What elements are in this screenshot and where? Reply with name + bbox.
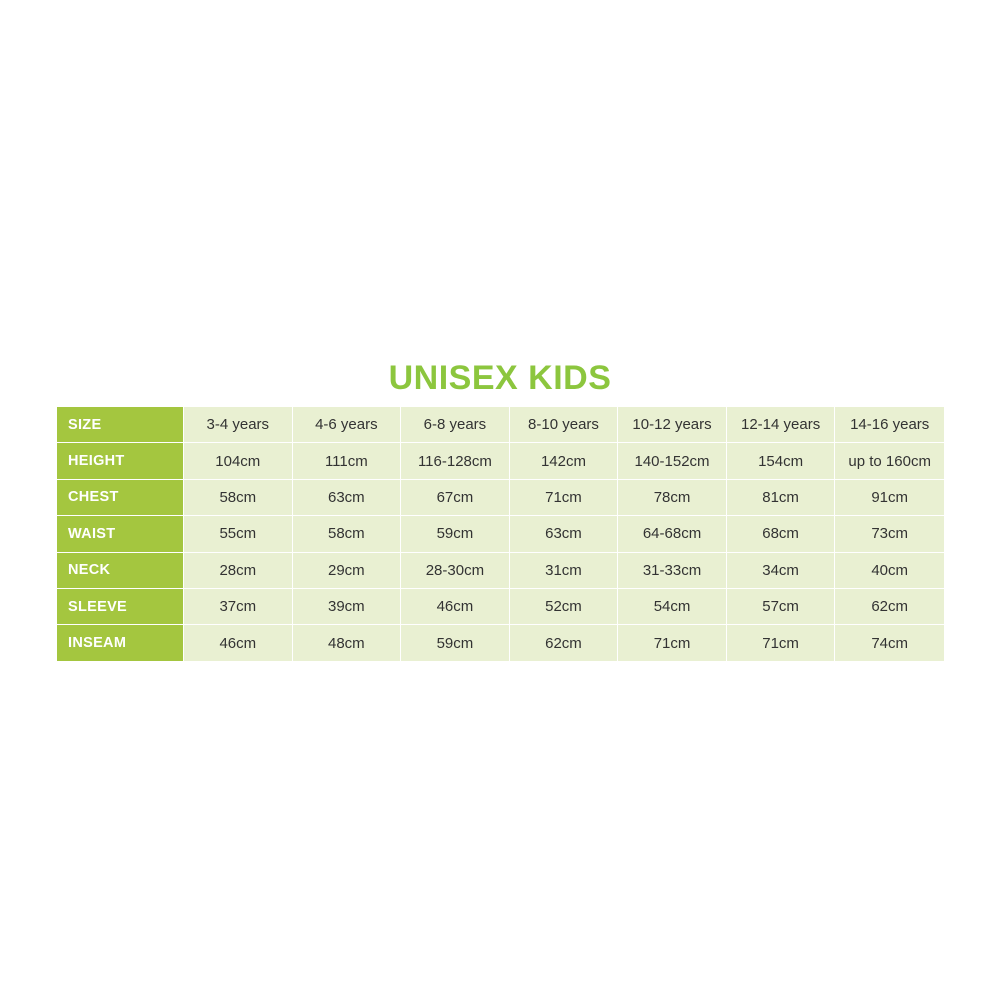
data-cell: 62cm (510, 625, 619, 660)
data-cell: 73cm (835, 516, 944, 552)
data-cell: 48cm (293, 625, 402, 660)
data-cell: 63cm (510, 516, 619, 552)
table-row: CHEST58cm63cm67cm71cm78cm81cm91cm (57, 480, 944, 516)
table-row: HEIGHT104cm111cm116-128cm142cm140-152cm1… (57, 443, 944, 479)
data-cell: 46cm (401, 589, 510, 625)
size-chart-table: SIZE3-4 years4-6 years6-8 years8-10 year… (57, 407, 944, 661)
data-cell: 78cm (618, 480, 727, 516)
data-cell: 37cm (184, 589, 293, 625)
data-cell: 64-68cm (618, 516, 727, 552)
row-label-cell: HEIGHT (57, 443, 184, 479)
data-cell: 67cm (401, 480, 510, 516)
column-header-cell: 8-10 years (510, 407, 619, 443)
column-header-cell: 6-8 years (401, 407, 510, 443)
data-cell: 68cm (727, 516, 836, 552)
data-cell: 71cm (727, 625, 836, 660)
data-cell: 29cm (293, 553, 402, 589)
column-header-cell: 3-4 years (184, 407, 293, 443)
row-label-cell: SLEEVE (57, 589, 184, 625)
data-cell: 46cm (184, 625, 293, 660)
size-chart-page: UNISEX KIDS SIZE3-4 years4-6 years6-8 ye… (0, 0, 1000, 1000)
table-row: INSEAM46cm48cm59cm62cm71cm71cm74cm (57, 625, 944, 660)
page-title: UNISEX KIDS (0, 358, 1000, 398)
data-cell: 31cm (510, 553, 619, 589)
data-cell: 59cm (401, 625, 510, 660)
data-cell: 59cm (401, 516, 510, 552)
row-label-cell: CHEST (57, 480, 184, 516)
data-cell: 58cm (184, 480, 293, 516)
data-cell: 34cm (727, 553, 836, 589)
column-header-cell: 4-6 years (293, 407, 402, 443)
data-cell: 74cm (835, 625, 944, 660)
data-cell: 40cm (835, 553, 944, 589)
table-row: WAIST55cm58cm59cm63cm64-68cm68cm73cm (57, 516, 944, 552)
data-cell: up to 160cm (835, 443, 944, 479)
row-label-cell: NECK (57, 553, 184, 589)
data-cell: 57cm (727, 589, 836, 625)
data-cell: 81cm (727, 480, 836, 516)
table-header-row: SIZE3-4 years4-6 years6-8 years8-10 year… (57, 407, 944, 443)
data-cell: 58cm (293, 516, 402, 552)
row-label-cell: INSEAM (57, 625, 184, 660)
size-chart-table-body: SIZE3-4 years4-6 years6-8 years8-10 year… (57, 407, 944, 661)
data-cell: 111cm (293, 443, 402, 479)
data-cell: 71cm (618, 625, 727, 660)
column-header-cell: 14-16 years (835, 407, 944, 443)
data-cell: 28-30cm (401, 553, 510, 589)
row-label-cell: SIZE (57, 407, 184, 443)
data-cell: 116-128cm (401, 443, 510, 479)
column-header-cell: 12-14 years (727, 407, 836, 443)
data-cell: 71cm (510, 480, 619, 516)
table-row: NECK28cm29cm28-30cm31cm31-33cm34cm40cm (57, 553, 944, 589)
data-cell: 104cm (184, 443, 293, 479)
data-cell: 63cm (293, 480, 402, 516)
data-cell: 28cm (184, 553, 293, 589)
data-cell: 52cm (510, 589, 619, 625)
data-cell: 54cm (618, 589, 727, 625)
data-cell: 62cm (835, 589, 944, 625)
table-row: SLEEVE37cm39cm46cm52cm54cm57cm62cm (57, 589, 944, 625)
data-cell: 140-152cm (618, 443, 727, 479)
row-label-cell: WAIST (57, 516, 184, 552)
column-header-cell: 10-12 years (618, 407, 727, 443)
data-cell: 31-33cm (618, 553, 727, 589)
data-cell: 142cm (510, 443, 619, 479)
data-cell: 39cm (293, 589, 402, 625)
data-cell: 91cm (835, 480, 944, 516)
data-cell: 154cm (727, 443, 836, 479)
data-cell: 55cm (184, 516, 293, 552)
